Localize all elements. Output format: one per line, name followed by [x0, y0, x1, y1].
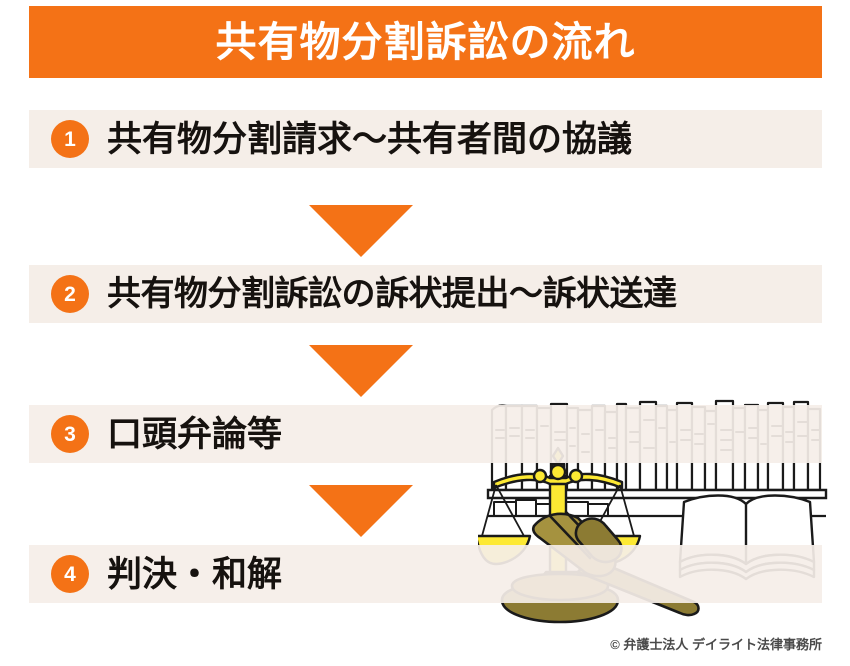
step-label-4: 判決・和解 [107, 557, 282, 592]
step-row-2: 2 共有物分割訴訟の訴状提出〜訴状送達 [29, 265, 822, 323]
arrow-down-icon [309, 345, 413, 397]
copyright-notice: © 弁護士法人 デイライト法律事務所 [610, 634, 822, 653]
page-title-bar: 共有物分割訴訟の流れ [29, 6, 822, 78]
step-row-4: 4 判決・和解 [29, 545, 822, 603]
step-row-3: 3 口頭弁論等 [29, 405, 822, 463]
step-label-1: 共有物分割請求〜共有者間の協議 [107, 122, 632, 157]
page-title: 共有物分割訴訟の流れ [216, 22, 636, 63]
arrow-down-icon [309, 205, 413, 257]
step-number-badge-1: 1 [51, 120, 89, 158]
flow-arrow-2 [309, 345, 413, 397]
step-row-1: 1 共有物分割請求〜共有者間の協議 [29, 110, 822, 168]
flow-arrow-1 [309, 205, 413, 257]
flow-arrow-3 [309, 485, 413, 537]
step-number-badge-2: 2 [51, 275, 89, 313]
step-number-badge-3: 3 [51, 415, 89, 453]
arrow-down-icon [309, 485, 413, 537]
step-number-badge-4: 4 [51, 555, 89, 593]
step-label-2: 共有物分割訴訟の訴状提出〜訴状送達 [107, 277, 677, 311]
infographic-root: 共有物分割訴訟の流れ [0, 0, 850, 666]
step-label-3: 口頭弁論等 [107, 417, 282, 452]
